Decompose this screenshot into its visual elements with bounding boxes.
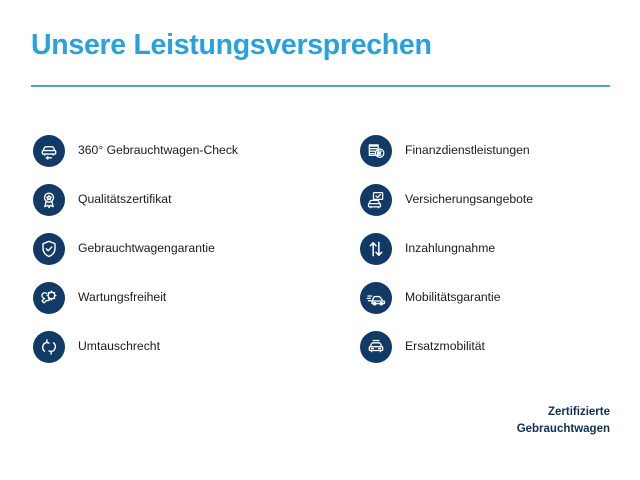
benefit-item-label: Inzahlungnahme	[405, 241, 495, 256]
page-title: Unsere Leistungsversprechen	[31, 29, 611, 62]
benefit-item-label: Ersatzmobilität	[405, 339, 485, 354]
certification-line-1: Zertifizierte	[517, 404, 610, 421]
slide-root: Unsere Leistungsversprechen 360° Gebrauc…	[0, 0, 640, 480]
benefit-item[interactable]: Versicherungsangebote	[360, 175, 640, 224]
car-motion-icon	[360, 282, 392, 314]
benefit-item-label: 360° Gebrauchtwagen-Check	[78, 143, 238, 158]
benefit-item[interactable]: 360° Gebrauchtwagen-Check	[33, 126, 333, 175]
benefit-item[interactable]: Wartungsfreiheit	[33, 273, 333, 322]
header: Unsere Leistungsversprechen	[31, 29, 611, 62]
benefits-column-left: 360° Gebrauchtwagen-CheckQualitätszertif…	[33, 126, 333, 371]
replacement-car-icon	[360, 331, 392, 363]
benefits-column-right: FinanzdienstleistungenVersicherungsangeb…	[360, 126, 640, 371]
benefit-item[interactable]: Mobilitätsgarantie	[360, 273, 640, 322]
benefit-item-label: Gebrauchtwagengarantie	[78, 241, 215, 256]
wrench-gear-icon	[33, 282, 65, 314]
benefit-item[interactable]: Qualitätszertifikat	[33, 175, 333, 224]
up-down-arrows-icon	[360, 233, 392, 265]
award-rosette-icon	[33, 184, 65, 216]
benefit-item[interactable]: Inzahlungnahme	[360, 224, 640, 273]
header-divider	[31, 85, 610, 87]
benefit-item-label: Versicherungsangebote	[405, 192, 533, 207]
car-insurance-doc-icon	[360, 184, 392, 216]
benefit-item[interactable]: Finanzdienstleistungen	[360, 126, 640, 175]
money-euro-icon	[360, 135, 392, 167]
benefit-item-label: Qualitätszertifikat	[78, 192, 171, 207]
shield-check-icon	[33, 233, 65, 265]
benefit-item-label: Finanzdienstleistungen	[405, 143, 530, 158]
car-360-check-icon	[33, 135, 65, 167]
exchange-arrows-icon	[33, 331, 65, 363]
benefit-item[interactable]: Umtauschrecht	[33, 322, 333, 371]
benefit-item-label: Umtauschrecht	[78, 339, 160, 354]
benefit-item[interactable]: Gebrauchtwagengarantie	[33, 224, 333, 273]
certification-badge: Zertifizierte Gebrauchtwagen	[517, 404, 610, 437]
benefit-item[interactable]: Ersatzmobilität	[360, 322, 640, 371]
benefit-item-label: Wartungsfreiheit	[78, 290, 166, 305]
benefit-item-label: Mobilitätsgarantie	[405, 290, 501, 305]
certification-line-2: Gebrauchtwagen	[517, 421, 610, 438]
